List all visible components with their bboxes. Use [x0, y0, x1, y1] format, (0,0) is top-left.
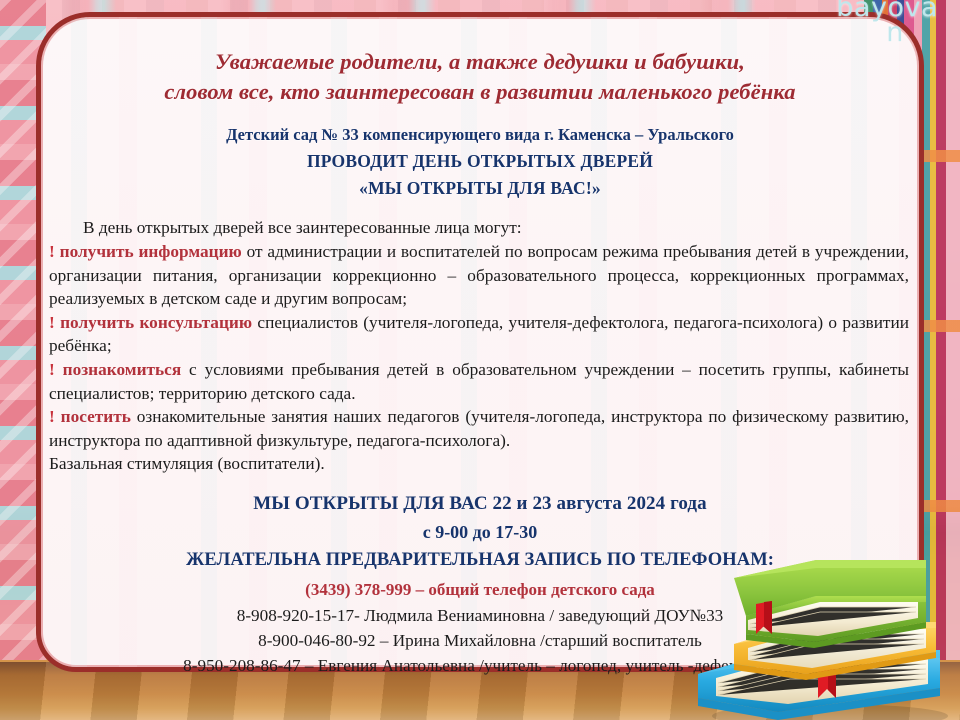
headline-line2: словом все, кто заинтересован в развитии… — [41, 77, 919, 107]
item-highlight: посетить — [61, 407, 131, 426]
list-item: ! получить консультацию специалистов (уч… — [49, 311, 909, 358]
body-intro: В день открытых дверей все заинтересован… — [49, 216, 909, 240]
watermark-line2: n — [836, 21, 938, 46]
event-name: ПРОВОДИТ ДЕНЬ ОТКРЫТЫХ ДВЕРЕЙ — [41, 148, 919, 175]
body-text: В день открытых дверей все заинтересован… — [49, 216, 909, 476]
page-title: Уважаемые родители, а также дедушки и ба… — [41, 47, 919, 106]
kindergarten-name: Детский сад № 33 компенсирующего вида г.… — [41, 123, 919, 148]
poster-canvas: bayova n Уважаемые родители, а также дед… — [0, 0, 960, 720]
list-item: ! посетить ознакомительные занятия наших… — [49, 405, 909, 452]
item-highlight: познакомиться — [63, 360, 182, 379]
book-stack-graphic — [690, 538, 952, 720]
item-rest: ознакомительные занятия наших педагогов … — [49, 407, 909, 450]
open-dates: МЫ ОТКРЫТЫ ДЛЯ ВАС 22 и 23 августа 2024 … — [41, 490, 919, 519]
bullet-bang-icon: ! — [49, 360, 55, 379]
list-item: ! получить информацию от администрации и… — [49, 240, 909, 311]
watermark: bayova n — [836, 0, 938, 46]
item-highlight: получить информацию — [60, 242, 242, 261]
headline-line1: Уважаемые родители, а также дедушки и ба… — [215, 49, 745, 74]
bullet-bang-icon: ! — [49, 242, 55, 261]
item-highlight: получить консультацию — [60, 313, 252, 332]
subtitle-block: Детский сад № 33 компенсирующего вида г.… — [41, 123, 919, 202]
body-tail: Базальная стимуляция (воспитатели). — [49, 452, 909, 476]
bullet-bang-icon: ! — [49, 407, 55, 426]
bullet-bang-icon: ! — [49, 313, 55, 332]
list-item: ! познакомиться с условиями пребывания д… — [49, 358, 909, 405]
event-slogan: «МЫ ОТКРЫТЫ ДЛЯ ВАС!» — [41, 175, 919, 202]
